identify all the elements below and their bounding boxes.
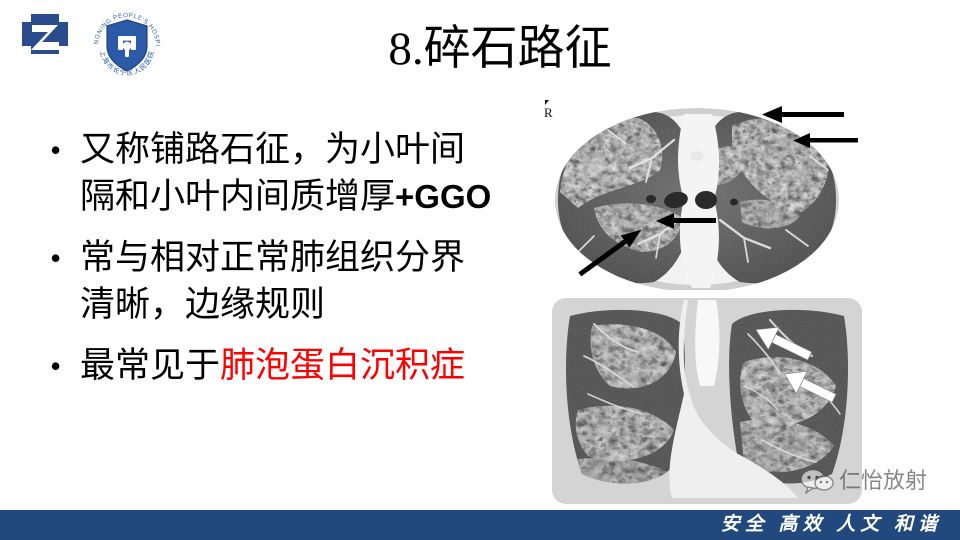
bullet-list: • 又称铺路石征，为小叶间隔和小叶内间质增厚+GGO • 常与相对正常肺组织分界… (44, 126, 496, 404)
list-item: • 最常见于肺泡蛋白沉积症 (44, 342, 496, 390)
zhongshan-z-logo: 1869 (14, 10, 76, 72)
footer-banner: 安全 高效 人文 和谐 (0, 510, 960, 540)
slide-canvas: 1869 CHANGNING PEOPLE'S HOSPITAL 上海市长宁区人… (0, 0, 960, 540)
axial-chest-ct: R (534, 96, 860, 292)
bullet-text: 又称铺路石征，为小叶间隔和小叶内间质增厚+GGO (80, 126, 496, 220)
bullet-marker: • (44, 126, 80, 174)
changning-hospital-seal: CHANGNING PEOPLE'S HOSPITAL 上海市长宁区人民医院 1… (88, 6, 166, 80)
trachea (695, 300, 719, 386)
watermark: 仁怡放射 (800, 468, 927, 494)
bullet-marker: • (44, 234, 80, 282)
bullet-segment-text: 最常见于 (80, 346, 220, 385)
bullet-text: 常与相对正常肺组织分界清晰，边缘规则 (80, 234, 496, 328)
watermark-label: 仁怡放射 (839, 470, 927, 492)
bullet-segment-text: 常与相对正常肺组织分界清晰，边缘规则 (80, 238, 465, 324)
page-title: 8.碎石路征 (200, 22, 800, 76)
list-item: • 常与相对正常肺组织分界清晰，边缘规则 (44, 234, 496, 328)
logo-year-1869: 1869 (34, 55, 57, 67)
seal-year-1980: 1980 (121, 24, 132, 30)
bullet-text: 最常见于肺泡蛋白沉积症 (80, 342, 496, 389)
logo-group: 1869 CHANGNING PEOPLE'S HOSPITAL 上海市长宁区人… (14, 6, 174, 78)
axial-ct-canvas (534, 96, 860, 292)
bullet-segment-highlight: 肺泡蛋白沉积症 (220, 346, 465, 385)
bullet-segment-latin: +GGO (395, 178, 491, 215)
footer-motto: 安全 高效 人文 和谐 (721, 510, 942, 540)
list-item: • 又称铺路石征，为小叶间隔和小叶内间质增厚+GGO (44, 126, 496, 220)
bullet-marker: • (44, 342, 80, 390)
orientation-marker-right: R (544, 106, 553, 119)
wechat-icon (800, 468, 834, 494)
